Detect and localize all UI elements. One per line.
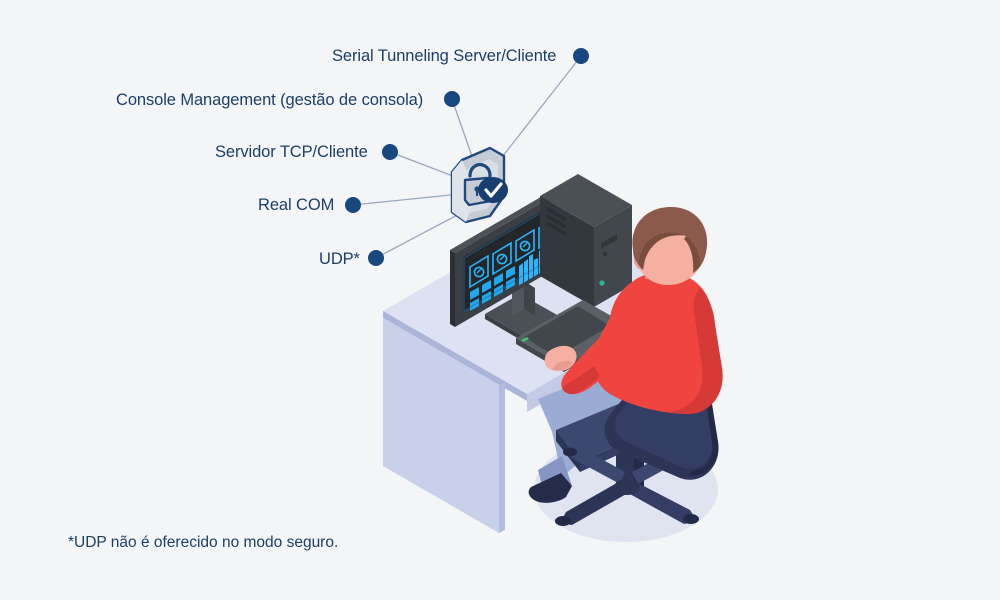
callout-dot-udp <box>368 250 384 266</box>
callout-dot-console-management <box>444 91 460 107</box>
callout-dot-serial-tunneling <box>573 48 589 64</box>
footnote-text: *UDP não é oferecido no modo seguro. <box>68 535 338 551</box>
callout-label-udp: UDP* <box>319 251 360 268</box>
secure-shield-lock-badge <box>452 148 508 222</box>
callout-dot-real-com <box>345 197 361 213</box>
illustration-canvas: Serial Tunneling Server/Cliente Console … <box>0 0 1000 600</box>
callout-label-servidor-tcp: Servidor TCP/Cliente <box>215 144 368 161</box>
callout-dot-servidor-tcp <box>382 144 398 160</box>
callout-label-serial-tunneling: Serial Tunneling Server/Cliente <box>332 48 556 65</box>
callout-label-real-com: Real COM <box>258 197 334 214</box>
callout-label-console-management: Console Management (gestão de consola) <box>116 92 423 109</box>
